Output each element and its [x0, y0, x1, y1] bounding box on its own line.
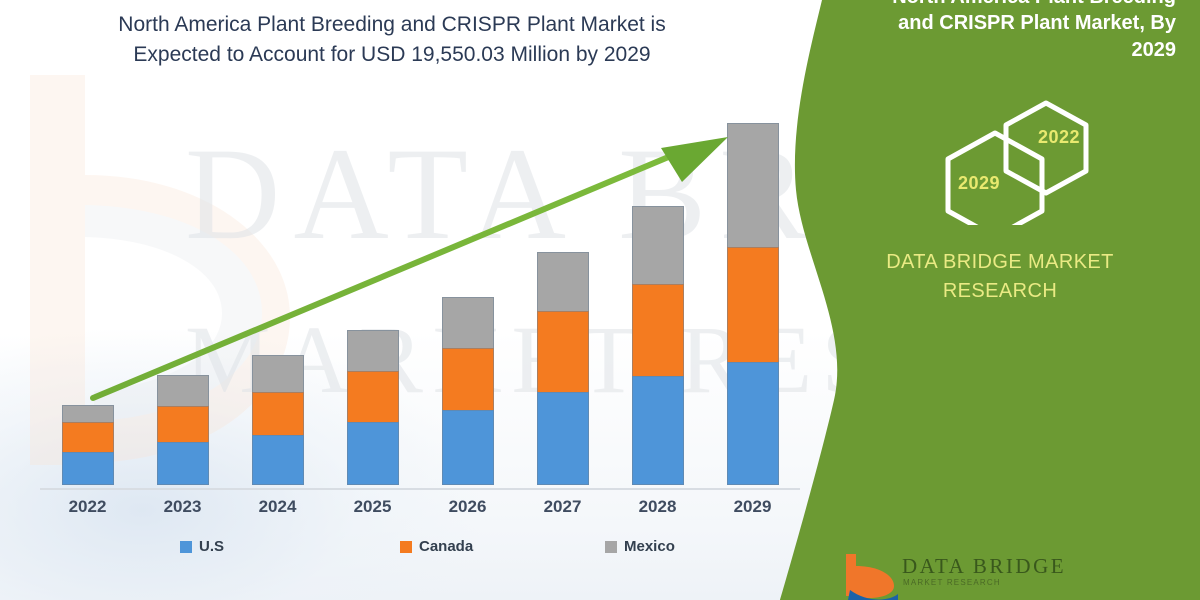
- legend-swatch-icon: [605, 541, 617, 553]
- bar-segment-canada: [347, 371, 399, 422]
- hex-label-2022: 2022: [1038, 127, 1080, 148]
- bar-segment-us: [157, 442, 209, 485]
- green-title-line-2: and CRISPR Plant Market, By: [840, 10, 1176, 36]
- bar-group: [727, 123, 779, 485]
- green-panel-content: North America Plant Breeding and CRISPR …: [780, 0, 1200, 600]
- bar-segment-mexico: [157, 375, 209, 405]
- legend-item-canada[interactable]: Canada: [400, 538, 473, 555]
- x-axis-label-2028: 2028: [623, 497, 693, 517]
- data-bridge-mark-icon: [840, 550, 900, 600]
- bar-segment-us: [727, 362, 779, 485]
- legend-label: U.S: [199, 538, 224, 555]
- bar-segment-mexico: [442, 297, 494, 348]
- x-axis-label-2027: 2027: [528, 497, 598, 517]
- bar-group: [347, 330, 399, 485]
- stacked-bar-chart: [40, 110, 800, 490]
- green-title-line-1: North America Plant Breeding: [840, 0, 1176, 10]
- bar-segment-us: [632, 376, 684, 485]
- bar-group: [252, 355, 304, 485]
- chart-panel: DATA BRI MARKET RESEARCH North America P…: [0, 0, 860, 600]
- bar-segment-canada: [252, 392, 304, 435]
- bar-segment-us: [347, 422, 399, 485]
- legend-swatch-icon: [400, 541, 412, 553]
- brand-line-1: DATA BRIDGE MARKET: [800, 248, 1200, 277]
- logo-tagline: MARKET RESEARCH: [903, 578, 1001, 587]
- bar-segment-us: [537, 392, 589, 485]
- chart-legend: U.SCanadaMexico: [150, 538, 710, 562]
- x-axis-label-2024: 2024: [243, 497, 313, 517]
- hexagon-outlines-icon: [920, 95, 1120, 225]
- hexagon-badges: 2029 2022: [920, 95, 1120, 225]
- x-axis-label-2023: 2023: [148, 497, 218, 517]
- x-axis-label-2022: 2022: [53, 497, 123, 517]
- chart-plot-area: [40, 110, 800, 485]
- bar-segment-canada: [442, 348, 494, 410]
- bar-segment-canada: [157, 406, 209, 442]
- brand-line-2: RESEARCH: [800, 277, 1200, 306]
- legend-item-mexico[interactable]: Mexico: [605, 538, 675, 555]
- green-panel-title: North America Plant Breeding and CRISPR …: [840, 0, 1176, 63]
- bar-segment-mexico: [537, 252, 589, 311]
- headline-line-2: Expected to Account for USD 19,550.03 Mi…: [62, 40, 722, 70]
- bar-segment-mexico: [252, 355, 304, 392]
- legend-swatch-icon: [180, 541, 192, 553]
- x-axis-label-2029: 2029: [718, 497, 788, 517]
- bar-group: [632, 206, 684, 485]
- legend-label: Canada: [419, 538, 473, 555]
- bar-segment-canada: [537, 311, 589, 391]
- page-title: North America Plant Breeding and CRISPR …: [62, 10, 722, 70]
- x-axis-labels: 20222023202420252026202720282029: [40, 497, 800, 523]
- bar-group: [62, 405, 114, 485]
- hex-label-2029: 2029: [958, 173, 1000, 194]
- headline-line-1: North America Plant Breeding and CRISPR …: [62, 10, 722, 40]
- green-title-line-3: 2029: [840, 37, 1176, 63]
- bar-segment-mexico: [632, 206, 684, 284]
- bar-segment-us: [62, 452, 114, 485]
- bar-group: [442, 297, 494, 485]
- legend-item-us[interactable]: U.S: [180, 538, 224, 555]
- infographic-canvas: DATA BRI MARKET RESEARCH North America P…: [0, 0, 1200, 600]
- bar-segment-us: [252, 435, 304, 485]
- x-axis-label-2025: 2025: [338, 497, 408, 517]
- bar-segment-canada: [62, 422, 114, 452]
- bar-segment-canada: [632, 284, 684, 376]
- bar-segment-mexico: [347, 330, 399, 371]
- bar-segment-us: [442, 410, 494, 485]
- bar-group: [537, 252, 589, 485]
- bar-segment-canada: [727, 247, 779, 362]
- bar-group: [157, 375, 209, 485]
- x-axis-label-2026: 2026: [433, 497, 503, 517]
- data-bridge-logo: DATA BRIDGE MARKET RESEARCH: [840, 550, 1170, 600]
- logo-wordmark: DATA BRIDGE: [902, 554, 1066, 579]
- brand-name: DATA BRIDGE MARKET RESEARCH: [800, 248, 1200, 306]
- bar-segment-mexico: [62, 405, 114, 422]
- x-axis-line: [40, 488, 800, 490]
- bar-segment-mexico: [727, 123, 779, 247]
- legend-label: Mexico: [624, 538, 675, 555]
